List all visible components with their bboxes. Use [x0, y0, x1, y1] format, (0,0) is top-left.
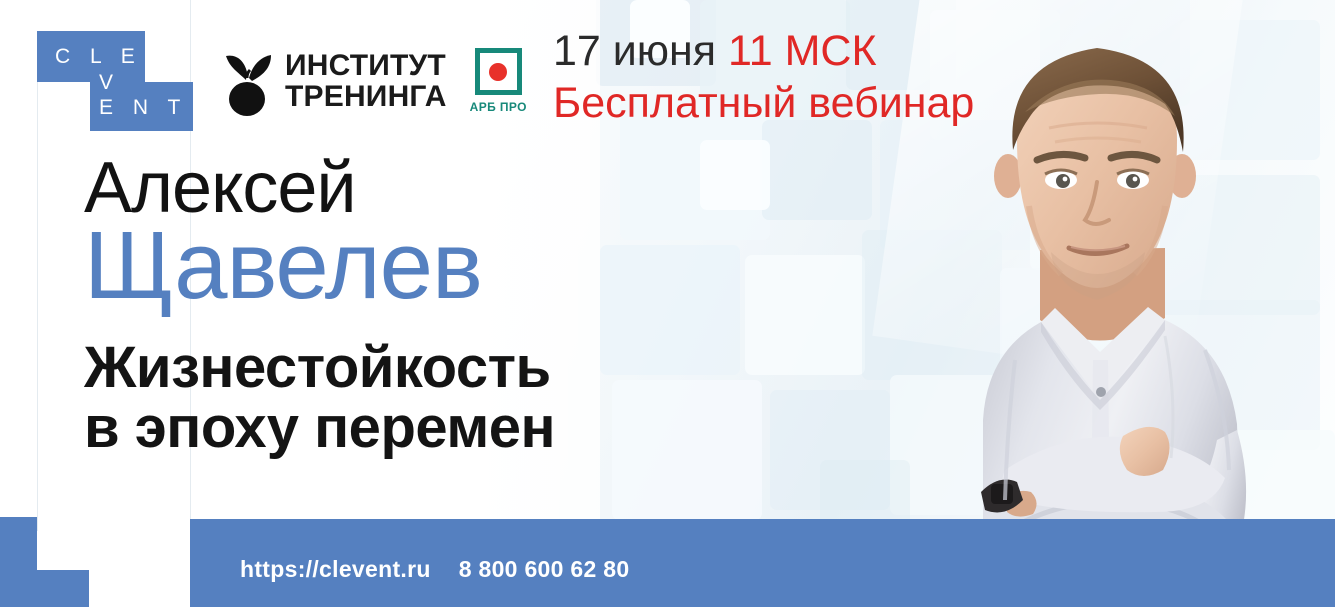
speaker-photo — [865, 0, 1335, 607]
footer-phone[interactable]: 8 800 600 62 80 — [459, 556, 630, 582]
event-time: 11 МСК — [728, 27, 877, 75]
arb-pro-logo[interactable]: АРБ ПРО — [470, 48, 527, 114]
institute-logo-line-2: ТРЕНИНГА — [285, 81, 447, 112]
arb-pro-label: АРБ ПРО — [470, 100, 527, 114]
footer-website[interactable]: https://clevent.ru — [240, 556, 431, 582]
event-date: 17 июня — [553, 27, 716, 75]
clevent-logo[interactable]: C L E V E N T — [37, 31, 197, 133]
clevent-logo-row-3: E N T — [99, 96, 187, 120]
footer-corner-block-lower — [0, 570, 89, 607]
webinar-promo-banner: C L E V E N T ИНСТИТУТ ТРЕНИНГА АРБ ПРО — [0, 0, 1335, 607]
red-dot-square-icon — [475, 48, 522, 95]
webinar-topic-line-2: в эпоху перемен — [84, 398, 555, 458]
berry-leaf-icon — [222, 44, 274, 118]
institute-logo[interactable]: ИНСТИТУТ ТРЕНИНГА АРБ ПРО — [222, 44, 527, 118]
institute-logo-line-1: ИНСТИТУТ — [285, 50, 447, 81]
webinar-topic: Жизнестойкость в эпоху перемен — [84, 338, 555, 458]
footer-contacts: https://clevent.ru8 800 600 62 80 — [240, 556, 629, 583]
red-dot — [489, 63, 507, 81]
speaker-last-name: Щавелев — [84, 218, 482, 314]
webinar-topic-line-1: Жизнестойкость — [84, 338, 555, 398]
institute-logo-text: ИНСТИТУТ ТРЕНИНГА — [285, 50, 447, 112]
clevent-logo-row-1: C L E — [55, 45, 142, 69]
clevent-logo-row-2: V — [99, 71, 120, 95]
